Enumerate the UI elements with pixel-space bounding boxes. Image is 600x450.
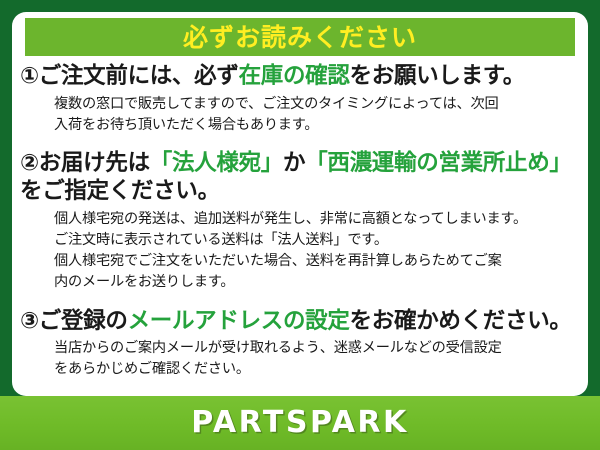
notice-items: ①ご注文前には、必ず在庫の確認をお願いします。 複数の窓口で販売してますので、ご…: [12, 62, 588, 380]
notice-item-3-body: 当店からのご案内メールが受け取れるよう、迷惑メールなどの受信設定 をあらかじめご…: [54, 338, 584, 380]
notice-item-3-heading: ③ご登録のメールアドレスの設定をお確かめください。: [20, 307, 584, 336]
notice-panel: 必ずお読みください ①ご注文前には、必ず在庫の確認をお願いします。 複数の窓口で…: [12, 12, 588, 396]
notice-item-2-heading-accent-2: 「西濃運輸の営業所止め」: [305, 150, 571, 176]
notice-item-1-body-line-1: 複数の窓口で販売してますので、ご注文のタイミングによっては、次回: [54, 94, 584, 115]
notice-item-2-body-line-2: ご注文時に表示されている送料は「法人送料」です。: [54, 230, 584, 251]
brand-name: PARTSPARK: [191, 408, 409, 438]
notice-item-2-heading-part-3: か: [283, 150, 305, 176]
notice-item-3-heading-accent: メールアドレスの設定: [128, 308, 350, 334]
notice-item-1-body-line-2: 入荷をお待ち頂いただく場合もあります。: [54, 115, 584, 136]
notice-item-2-body: 個人様宅宛の発送は、追加送料が発生し、非常に高額となってしまいます。 ご注文時に…: [54, 209, 584, 293]
notice-item-2: ②お届け先は「法人様宛」か「西濃運輸の営業所止め」をご指定ください。 個人様宅宛…: [12, 149, 588, 293]
notice-item-3-heading-part-3: をお確かめください。: [350, 308, 572, 334]
notice-item-2-body-line-3: 個人様宅宛でご注文をいただいた場合、送料を再計算しあらためてご案: [54, 251, 584, 272]
notice-item-1-heading-part-3: をお願いします。: [350, 63, 525, 89]
notice-item-1-body: 複数の窓口で販売してますので、ご注文のタイミングによっては、次回 入荷をお待ち頂…: [54, 94, 584, 136]
notice-item-2-body-line-1: 個人様宅宛の発送は、追加送料が発生し、非常に高額となってしまいます。: [54, 209, 584, 230]
notice-item-3-marker: ③: [20, 308, 39, 334]
notice-item-1-heading-part-1: ご注文前には、必ず: [39, 63, 239, 89]
notice-item-1-heading: ①ご注文前には、必ず在庫の確認をお願いします。: [20, 62, 584, 91]
notice-item-2-heading-accent-1: 「法人様宛」: [150, 150, 283, 176]
notice-item-1: ①ご注文前には、必ず在庫の確認をお願いします。 複数の窓口で販売してますので、ご…: [12, 62, 588, 136]
notice-item-1-heading-accent: 在庫の確認: [239, 63, 350, 89]
notice-item-2-marker: ②: [20, 150, 39, 176]
notice-item-2-heading-part-5: をご指定ください。: [20, 178, 220, 204]
notice-item-3-body-line-1: 当店からのご案内メールが受け取れるよう、迷惑メールなどの受信設定: [54, 338, 584, 359]
brand-footer: PARTSPARK: [0, 396, 600, 450]
notice-card: 必ずお読みください ①ご注文前には、必ず在庫の確認をお願いします。 複数の窓口で…: [0, 0, 600, 450]
notice-item-2-body-line-4: 内のメールをお送りします。: [54, 272, 584, 293]
notice-item-2-heading-part-1: お届け先は: [39, 150, 150, 176]
notice-title-bar: 必ずお読みください: [25, 18, 575, 56]
notice-item-1-marker: ①: [20, 63, 39, 89]
notice-item-3-body-line-2: をあらかじめご確認ください。: [54, 359, 584, 380]
notice-item-3: ③ご登録のメールアドレスの設定をお確かめください。 当店からのご案内メールが受け…: [12, 307, 588, 381]
notice-item-2-heading: ②お届け先は「法人様宛」か「西濃運輸の営業所止め」をご指定ください。: [20, 149, 584, 207]
page-title: 必ずお読みください: [183, 25, 417, 50]
notice-item-3-heading-part-1: ご登録の: [39, 308, 128, 334]
